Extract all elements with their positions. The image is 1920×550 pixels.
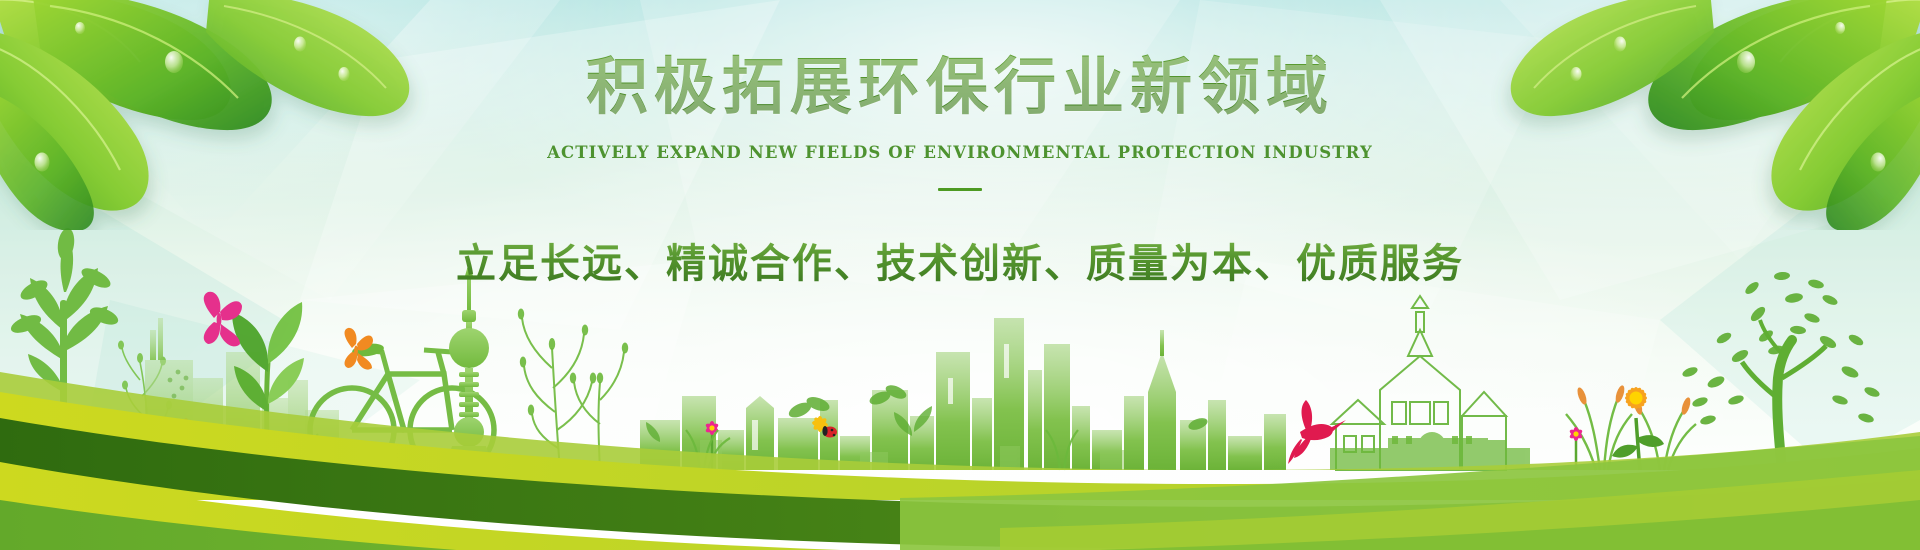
wave-band-grass — [0, 500, 1920, 550]
banner-tagline-chinese: 立足长远、精诚合作、技术创新、质量为本、优质服务 — [0, 231, 1920, 289]
wave-band-right-sweep — [900, 436, 1920, 550]
leaf-sprout-left — [232, 302, 304, 470]
wave-band-lime — [0, 392, 1920, 500]
bicycle-seat — [351, 342, 384, 358]
sunflower — [1612, 386, 1664, 470]
branch-plant-buds — [518, 309, 628, 416]
branch-plant-mid — [522, 318, 624, 470]
eco-banner: 积极拓展环保行业新领域 ACTIVELY EXPAND NEW FIELDS O… — [0, 0, 1920, 550]
city-skyline-center — [640, 318, 1286, 470]
butterfly-orange — [345, 328, 373, 370]
wave-band-bright — [0, 470, 1920, 550]
reed-heads-right — [1576, 384, 1692, 415]
ladybug — [812, 416, 837, 438]
pink-flower-right — [1568, 427, 1583, 470]
wiry-plants-left — [122, 348, 168, 470]
house-roof-crest — [1392, 436, 1472, 444]
wiry-plants-left-buds — [118, 341, 172, 410]
bicycle — [310, 350, 494, 472]
city-left-blocks — [145, 318, 339, 470]
grass-center — [286, 430, 1078, 470]
hummingbird — [1288, 400, 1346, 464]
wave-band-right-lime — [1000, 470, 1920, 550]
wave-band-right-grass — [1100, 500, 1920, 550]
title-divider — [938, 188, 982, 191]
banner-text-block: 积极拓展环保行业新领域 ACTIVELY EXPAND NEW FIELDS O… — [0, 0, 1920, 289]
city-left-window-dots — [168, 370, 189, 399]
wave-band-light — [0, 372, 1920, 470]
tree-right — [1681, 271, 1881, 470]
skyline-sprouts — [646, 406, 932, 442]
banner-subtitle-english: ACTIVELY EXPAND NEW FIELDS OF ENVIRONMEN… — [0, 143, 1920, 162]
banner-title-chinese: 积极拓展环保行业新领域 — [0, 0, 1920, 121]
city-shrubs — [787, 383, 1210, 433]
city-skyline-center-overlay — [700, 440, 1124, 470]
wave-band-olive — [0, 418, 1920, 548]
butterfly-pink — [204, 292, 242, 347]
victorian-house — [1332, 296, 1506, 470]
orange-flower-left — [178, 418, 194, 470]
grass-tufts-right — [1566, 398, 1696, 470]
pink-flower-mid — [704, 421, 719, 470]
pearl-tower — [444, 262, 494, 470]
victorian-house-fill — [1330, 432, 1530, 470]
city-window-stripe — [752, 344, 1009, 450]
